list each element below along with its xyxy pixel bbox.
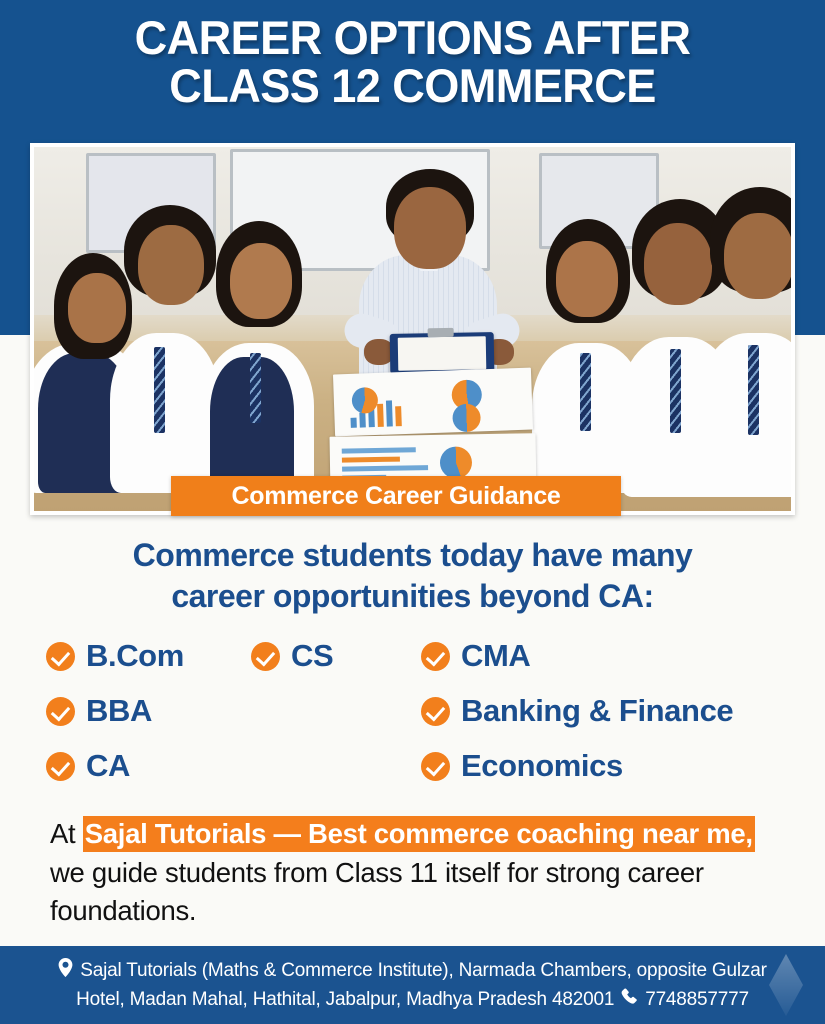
student-right-3-head [724, 213, 791, 299]
check-circle-icon [421, 752, 450, 781]
checklist-item-label: Banking & Finance [461, 693, 733, 729]
checklist-item-banking-finance: Banking & Finance [421, 693, 733, 729]
check-circle-icon [421, 697, 450, 726]
photo-caption-banner: Commerce Career Guidance [171, 476, 621, 516]
checklist-item-cs: CS [251, 638, 333, 674]
student-right-1-tie [580, 353, 591, 431]
check-circle-icon [251, 642, 280, 671]
student-left-2-head [138, 225, 204, 305]
phone-icon [621, 987, 638, 1013]
student-right-3-torso [698, 333, 791, 497]
subheadline-line-2: career opportunities beyond CA: [0, 576, 825, 617]
checklist-item-bba: BBA [46, 693, 152, 729]
checklist-item-label: Economics [461, 748, 623, 784]
location-pin-icon [58, 958, 73, 985]
checklist-item-label: CMA [461, 638, 530, 674]
check-circle-icon [46, 752, 75, 781]
title-line-1: CAREER OPTIONS AFTER [17, 14, 809, 62]
check-circle-icon [421, 642, 450, 671]
teacher-head [394, 187, 466, 269]
check-circle-icon [46, 697, 75, 726]
subheadline-line-1: Commerce students today have many [0, 535, 825, 576]
student-left-3-head [230, 243, 292, 319]
paragraph-highlight: Sajal Tutorials — Best commerce coaching… [83, 816, 755, 852]
student-left-2-tie [154, 347, 165, 433]
clipboard [390, 332, 495, 374]
checklist-item-label: CA [86, 748, 130, 784]
pie-chart-icon-3 [452, 403, 481, 432]
check-circle-icon [46, 642, 75, 671]
footer-address-line-2: Hotel, Madan Mahal, Hathital, Jabalpur, … [76, 987, 749, 1013]
body-paragraph: At Sajal Tutorials — Best commerce coach… [50, 815, 790, 931]
hero-photo [34, 147, 791, 511]
student-right-2-head [644, 223, 712, 305]
title-line-2: CLASS 12 COMMERCE [17, 62, 809, 110]
student-left-1-head [68, 273, 126, 343]
checklist-item-bcom: B.Com [46, 638, 184, 674]
checklist-row: BBA Banking & Finance [46, 693, 806, 748]
chart-document-1 [333, 368, 533, 437]
paragraph-prefix: At [50, 818, 83, 849]
footer-phone-number[interactable]: 7748857777 [645, 987, 749, 1013]
paragraph-suffix: we guide students from Class 11 itself f… [50, 857, 704, 927]
student-right-1-head [556, 241, 618, 317]
poster-canvas: CAREER OPTIONS AFTER CLASS 12 COMMERCE [0, 0, 825, 1024]
student-right-3-tie [748, 345, 759, 435]
checklist-item-ca: CA [46, 748, 130, 784]
diamond-watermark-icon [769, 954, 803, 1016]
footer-address-text-2: Hotel, Madan Mahal, Hathital, Jabalpur, … [76, 987, 614, 1013]
page-title: CAREER OPTIONS AFTER CLASS 12 COMMERCE [17, 14, 809, 111]
student-left-3-tie [250, 353, 261, 423]
footer-address-line-1: Sajal Tutorials (Maths & Commerce Instit… [58, 958, 766, 985]
checklist-item-label: CS [291, 638, 333, 674]
footer-contact-bar: Sajal Tutorials (Maths & Commerce Instit… [0, 946, 825, 1024]
hero-photo-frame [30, 143, 795, 515]
checklist-row: B.Com CS CMA [46, 638, 806, 693]
checklist-item-economics: Economics [421, 748, 623, 784]
checklist-row: CA Economics [46, 748, 806, 803]
subheadline: Commerce students today have many career… [0, 535, 825, 617]
footer-address-text-1: Sajal Tutorials (Maths & Commerce Instit… [80, 958, 766, 984]
checklist-item-label: BBA [86, 693, 152, 729]
checklist-item-cma: CMA [421, 638, 530, 674]
pie-chart-icon-4 [440, 446, 473, 479]
student-right-2-tie [670, 349, 681, 433]
career-options-list: B.Com CS CMA BBA Banking & Finance [46, 638, 806, 803]
checklist-item-label: B.Com [86, 638, 184, 674]
